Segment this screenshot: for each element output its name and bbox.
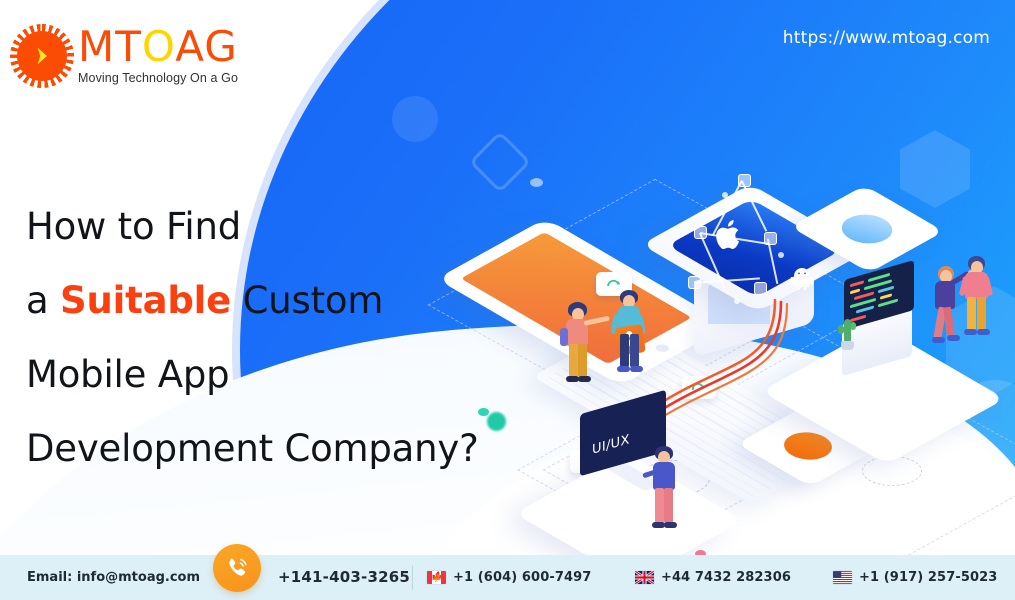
isometric-mobile-app-development-illustration: UI/UX bbox=[470, 150, 1015, 550]
network-dot-icon bbox=[722, 192, 728, 198]
person-user-holding-box bbox=[608, 290, 656, 388]
usa-flag-icon bbox=[833, 571, 852, 584]
decorative-circle-icon bbox=[392, 96, 438, 142]
headline-line-2-prefix: a bbox=[26, 279, 60, 322]
phone-handset-icon bbox=[224, 555, 250, 581]
footer-divider bbox=[412, 566, 413, 590]
network-node-icon bbox=[688, 276, 701, 289]
person-uiux-designer bbox=[644, 446, 684, 540]
blue-oval-icon bbox=[831, 209, 902, 250]
cable-orange-icon bbox=[650, 300, 775, 410]
network-node-icon bbox=[694, 226, 707, 239]
brand-name: MTOAG bbox=[78, 26, 238, 68]
email-contact[interactable]: Email: info@mtoag.com bbox=[27, 570, 200, 585]
android-logo-icon bbox=[790, 268, 814, 290]
brand-name-part2: AG bbox=[175, 22, 238, 71]
uk-flag-icon bbox=[635, 571, 654, 584]
network-node-icon bbox=[764, 232, 777, 245]
canada-flag-icon: 🍁 bbox=[427, 571, 446, 584]
accent-dot-teal-icon bbox=[478, 408, 489, 416]
developer-desk bbox=[818, 278, 1015, 418]
contact-footer-bar: Email: info@mtoag.com +141-403-3265 🍁 +1… bbox=[0, 555, 1015, 600]
contact-usa[interactable]: +1 (917) 257-5023 bbox=[833, 570, 997, 585]
promotional-banner: MTOAG Moving Technology On a Go https://… bbox=[0, 0, 1015, 600]
mtoag-sunburst-logo-icon bbox=[14, 28, 70, 84]
cactus-plant-icon bbox=[838, 316, 856, 350]
contact-uk-number: +44 7432 282306 bbox=[661, 570, 791, 585]
brand-logo[interactable]: MTOAG Moving Technology On a Go bbox=[14, 26, 238, 85]
apple-logo-icon bbox=[714, 218, 744, 252]
contact-uk[interactable]: +44 7432 282306 bbox=[635, 570, 791, 585]
person-user-pointing bbox=[558, 302, 600, 394]
contact-usa-number: +1 (917) 257-5023 bbox=[859, 570, 997, 585]
person-developer-standing bbox=[956, 256, 998, 348]
brand-logo-text: MTOAG Moving Technology On a Go bbox=[78, 26, 238, 85]
brand-tagline: Moving Technology On a Go bbox=[78, 71, 238, 85]
brand-name-letter-o: O bbox=[142, 22, 175, 71]
contact-canada[interactable]: 🍁 +1 (604) 600-7497 bbox=[427, 570, 591, 585]
website-url[interactable]: https://www.mtoag.com bbox=[783, 28, 990, 48]
contact-canada-number: +1 (604) 600-7497 bbox=[453, 570, 591, 585]
uiux-designer-desk: UI/UX bbox=[568, 400, 748, 560]
brand-name-part1: MT bbox=[78, 22, 142, 71]
network-node-icon bbox=[738, 174, 751, 187]
headline-accent-word: Suitable bbox=[60, 279, 231, 322]
network-dot-icon bbox=[778, 252, 784, 258]
phone-call-icon[interactable] bbox=[213, 544, 261, 592]
cable-red-icon bbox=[652, 302, 781, 416]
accent-dot-blue-icon bbox=[530, 178, 543, 187]
headline-line-2-suffix: Custom bbox=[231, 279, 383, 322]
primary-phone-number[interactable]: +141-403-3265 bbox=[278, 568, 410, 586]
uiux-screen-label: UI/UX bbox=[592, 432, 630, 458]
